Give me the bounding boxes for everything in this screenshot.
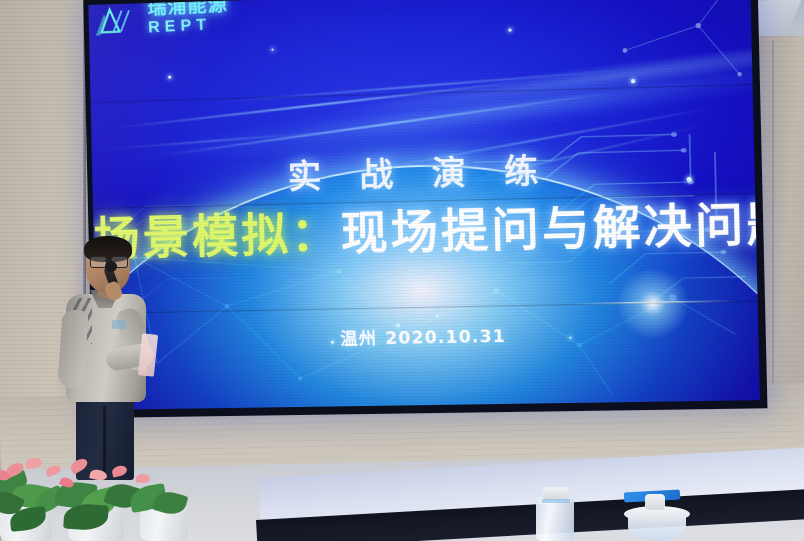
plant-bloom: [136, 473, 151, 483]
presenter-badge: [112, 320, 126, 329]
logo-chinese-name: 瑞浦能源: [147, 0, 228, 18]
slide-date: 2020.10.31: [385, 327, 506, 349]
slide-title-main: 现场提问与解决问题: [340, 196, 760, 261]
sparkle-dot: [168, 76, 171, 79]
brand-logo: 瑞浦能源 REPT: [90, 0, 229, 39]
anthurium-planters: [0, 430, 224, 541]
rept-triangle-logo-icon: [90, 1, 143, 37]
slide-surface: 瑞浦能源 REPT 实 战 演 练 场景模拟：现场提问与解决问题 温州2020.…: [88, 0, 760, 410]
plant-bloom: [68, 456, 89, 475]
plant-bloom: [25, 457, 42, 469]
microphone-head: [105, 261, 117, 272]
logo-wordmark: 瑞浦能源 REPT: [147, 0, 229, 36]
cup-spout: [645, 494, 665, 510]
slide-city: 温州: [340, 329, 377, 350]
led-video-wall: 瑞浦能源 REPT 实 战 演 练 场景模拟：现场提问与解决问题 温州2020.…: [83, 0, 767, 418]
plant-bloom: [45, 464, 62, 477]
plant-bloom: [111, 464, 128, 477]
sparkle-dot: [631, 79, 635, 83]
sparkle-dot: [271, 48, 273, 50]
sparkle-dot: [436, 315, 439, 318]
plant-bloom: [89, 468, 108, 481]
presenter-papers: [138, 333, 158, 376]
water-bottle: [536, 497, 574, 541]
bottle-neck-ring: [542, 499, 570, 503]
presenter-left-arm: [57, 309, 88, 389]
screenshot-stage: 瑞浦能源 REPT 实 战 演 练 场景模拟：现场提问与解决问题 温州2020.…: [0, 0, 804, 541]
